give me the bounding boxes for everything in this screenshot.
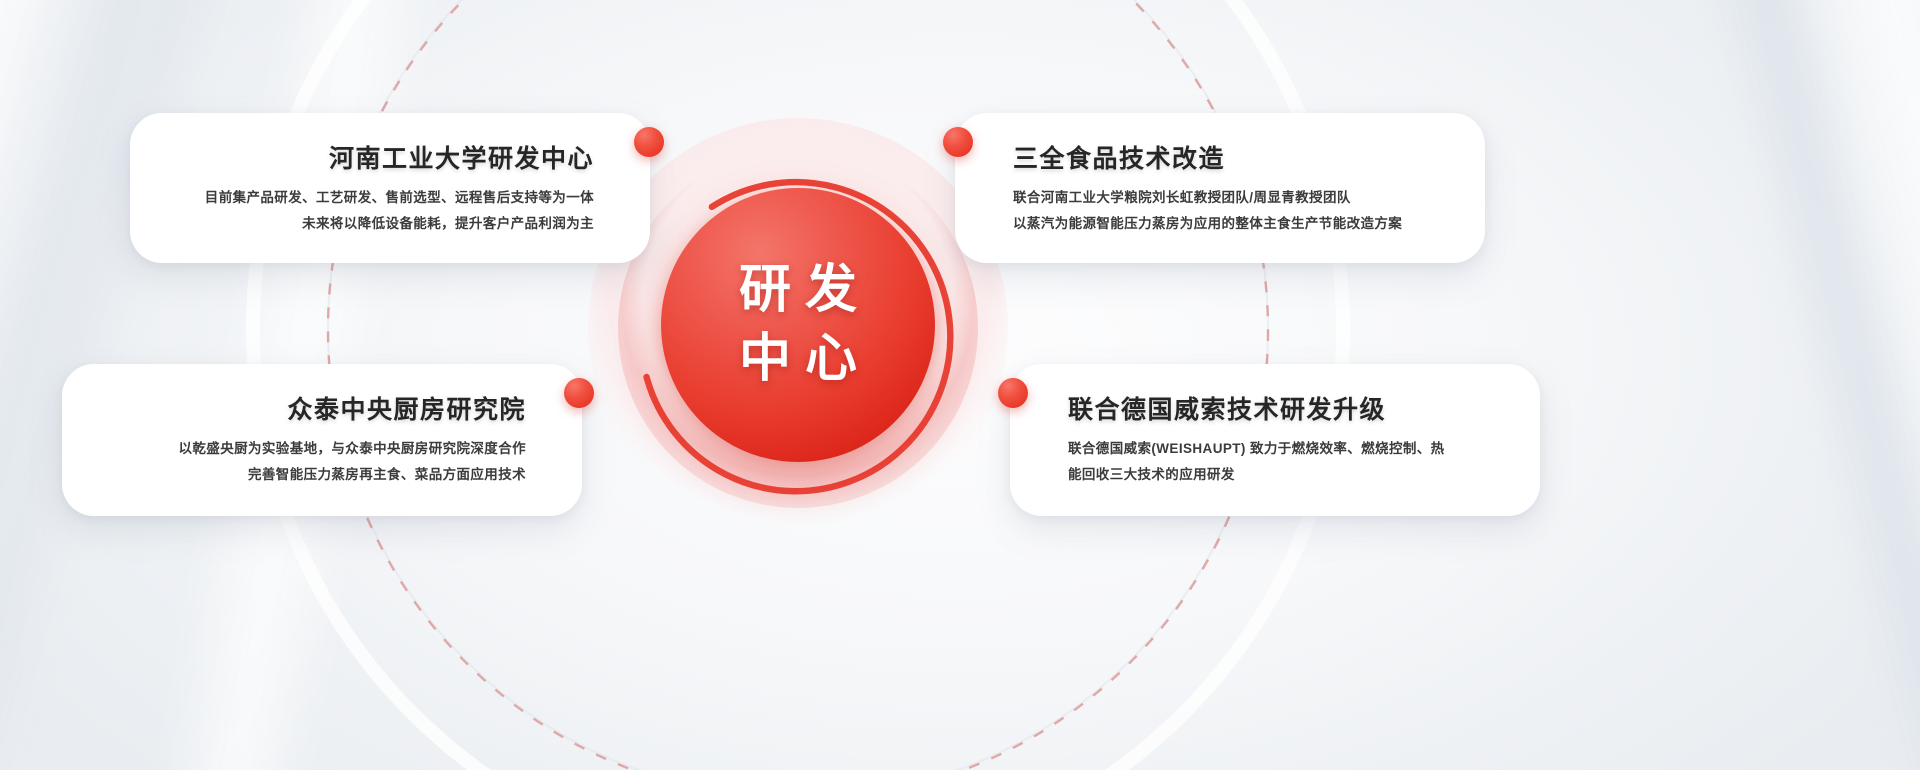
card-body-line: 以蒸汽为能源智能压力蒸房为应用的整体主食生产节能改造方案 (1013, 211, 1455, 237)
card-zhongtai-central-kitchen-institute[interactable]: 众泰中央厨房研究院 以乾盛央厨为实验基地，与众泰中央厨房研究院深度合作 完善智能… (62, 364, 582, 516)
center-red-circle: 研发 中心 (661, 188, 935, 462)
card-body-line: 能回收三大技术的应用研发 (1068, 462, 1510, 488)
red-dot-marker-icon (634, 127, 664, 157)
card-title: 联合德国威索技术研发升级 (1068, 390, 1510, 426)
infographic-stage: 研发 中心 河南工业大学研发中心 目前集产品研发、工艺研发、售前选型、远程售后支… (0, 0, 1920, 770)
red-dot-marker-icon (998, 378, 1028, 408)
card-body-line: 联合德国威索(WEISHAUPT) 致力于燃烧效率、燃烧控制、热 (1068, 436, 1510, 462)
center-badge: 研发 中心 (588, 118, 1008, 538)
card-body-line: 以乾盛央厨为实验基地，与众泰中央厨房研究院深度合作 (96, 436, 526, 462)
card-body-line: 完善智能压力蒸房再主食、菜品方面应用技术 (96, 462, 526, 488)
card-body-line: 联合河南工业大学粮院刘长虹教授团队/周显青教授团队 (1013, 185, 1455, 211)
center-label-line-1: 研发 (725, 256, 871, 325)
red-dot-marker-icon (564, 378, 594, 408)
card-body-line: 目前集产品研发、工艺研发、售前选型、远程售后支持等为一体 (164, 185, 594, 211)
card-sanquan-food-technology-upgrade[interactable]: 三全食品技术改造 联合河南工业大学粮院刘长虹教授团队/周显青教授团队 以蒸汽为能… (955, 113, 1485, 263)
red-dot-marker-icon (943, 127, 973, 157)
card-henan-university-of-technology-rd-center[interactable]: 河南工业大学研发中心 目前集产品研发、工艺研发、售前选型、远程售后支持等为一体 … (130, 113, 650, 263)
card-title: 三全食品技术改造 (1013, 139, 1455, 175)
card-body-line: 未来将以降低设备能耗，提升客户产品利润为主 (164, 211, 594, 237)
card-title: 众泰中央厨房研究院 (96, 390, 526, 426)
center-label-line-2: 中心 (725, 325, 871, 394)
card-title: 河南工业大学研发中心 (164, 139, 594, 175)
card-weishaupt-joint-rd-upgrade[interactable]: 联合德国威索技术研发升级 联合德国威索(WEISHAUPT) 致力于燃烧效率、燃… (1010, 364, 1540, 516)
